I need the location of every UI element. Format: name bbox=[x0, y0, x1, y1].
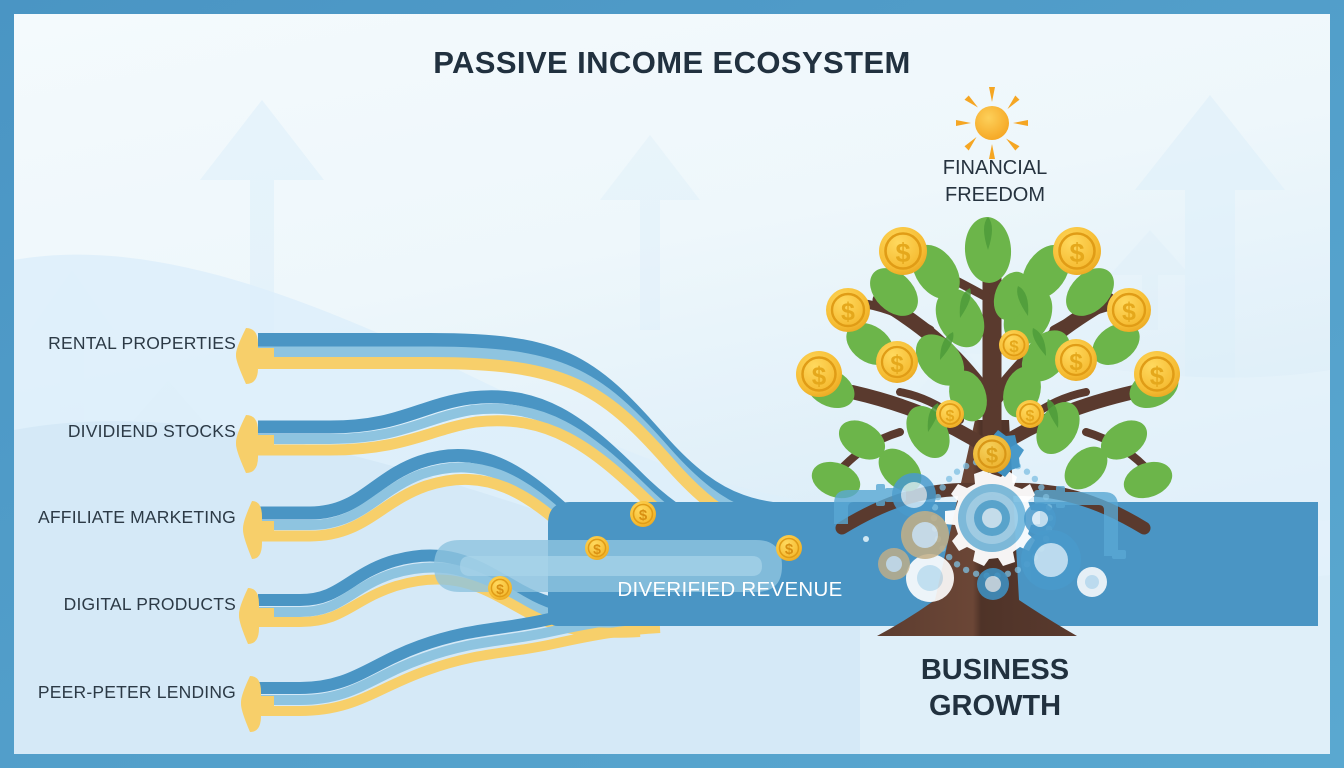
tree-coin: $ bbox=[1055, 339, 1097, 381]
source-label-digital-products: DIGITAL PRODUCTS bbox=[26, 594, 236, 615]
svg-text:$: $ bbox=[895, 238, 910, 268]
svg-text:$: $ bbox=[1150, 361, 1165, 391]
svg-text:$: $ bbox=[593, 541, 601, 557]
source-label-text: RENTAL PROPERTIES bbox=[48, 333, 236, 353]
gear-bronze-small bbox=[878, 548, 910, 580]
nozzle-stem-peer bbox=[250, 696, 274, 707]
tree-coin: $ bbox=[876, 341, 918, 383]
diversified-revenue-pipeline bbox=[434, 502, 1318, 626]
gear-small-white-left bbox=[906, 554, 954, 602]
sun-icon bbox=[956, 87, 1028, 159]
svg-text:$: $ bbox=[841, 298, 855, 326]
financial-freedom-label: FINANCIAL FREEDOM bbox=[890, 155, 1100, 209]
business-growth-line2: GROWTH bbox=[880, 688, 1110, 724]
source-label-text: AFFILIATE MARKETING bbox=[38, 507, 236, 527]
gear-right bbox=[1021, 530, 1081, 590]
financial-freedom-line2: FREEDOM bbox=[890, 182, 1100, 209]
svg-text:$: $ bbox=[785, 541, 794, 558]
nozzle-stem-dividend bbox=[246, 435, 274, 446]
svg-text:$: $ bbox=[986, 443, 998, 468]
source-label-text: PEER-PETER LENDING bbox=[38, 682, 236, 702]
source-label-affiliate-marketing: AFFILIATE MARKETING bbox=[26, 507, 236, 528]
business-growth-label: BUSINESS GROWTH bbox=[880, 652, 1110, 724]
pipeline-inner-highlight bbox=[460, 556, 762, 576]
svg-text:$: $ bbox=[1009, 337, 1019, 356]
gear-base-small bbox=[977, 568, 1009, 600]
svg-text:$: $ bbox=[1026, 408, 1035, 425]
source-label-text: DIVIDIEND STOCKS bbox=[68, 421, 236, 441]
tree-coin: $ bbox=[999, 330, 1029, 360]
infographic-canvas: $ $ $ $ bbox=[0, 0, 1344, 768]
infographic-artwork: $ $ $ $ bbox=[0, 0, 1344, 768]
svg-text:$: $ bbox=[1122, 298, 1136, 326]
pipeline-bubble-decor bbox=[863, 536, 869, 542]
tree-coin: $ bbox=[1053, 227, 1101, 275]
tree-coin: $ bbox=[1107, 288, 1151, 332]
tree-coin: $ bbox=[879, 227, 927, 275]
tree-coin: $ bbox=[796, 351, 842, 397]
source-label-rental-properties: RENTAL PROPERTIES bbox=[26, 333, 236, 354]
pipeline-label: DIVERIFIED REVENUE bbox=[560, 578, 900, 602]
svg-text:$: $ bbox=[496, 581, 504, 597]
pipeline-coin-3: $ bbox=[776, 535, 802, 561]
svg-text:$: $ bbox=[639, 507, 648, 524]
pipeline-coin-1: $ bbox=[630, 501, 656, 527]
pipeline-coin-2: $ bbox=[585, 536, 609, 560]
nozzle-stem-affiliate bbox=[252, 521, 274, 532]
tree-coin: $ bbox=[936, 400, 964, 428]
tree-coin: $ bbox=[1016, 400, 1044, 428]
gear-right-small bbox=[1024, 503, 1056, 535]
svg-text:$: $ bbox=[1069, 349, 1083, 376]
svg-text:$: $ bbox=[946, 408, 955, 425]
financial-freedom-line1: FINANCIAL bbox=[890, 155, 1100, 182]
source-label-peer-lending: PEER-PETER LENDING bbox=[26, 682, 236, 703]
tree-coin: $ bbox=[826, 288, 870, 332]
svg-text:$: $ bbox=[890, 351, 904, 378]
gear-small-left bbox=[892, 473, 936, 517]
svg-text:$: $ bbox=[812, 361, 827, 391]
gear-white-small-right bbox=[1077, 567, 1107, 597]
source-label-dividend-stocks: DIVIDIEND STOCKS bbox=[26, 421, 236, 442]
gear-bronze-left bbox=[901, 511, 949, 559]
pipeline-coin-inlet: $ bbox=[488, 576, 512, 600]
nozzle-stem-rental bbox=[246, 348, 274, 359]
business-growth-line1: BUSINESS bbox=[880, 652, 1110, 688]
nozzle-stem-digital bbox=[248, 608, 274, 619]
svg-text:$: $ bbox=[1069, 238, 1084, 268]
tree-coin: $ bbox=[1134, 351, 1180, 397]
source-label-text: DIGITAL PRODUCTS bbox=[64, 594, 236, 614]
page-title: PASSIVE INCOME ECOSYSTEM bbox=[0, 45, 1344, 81]
